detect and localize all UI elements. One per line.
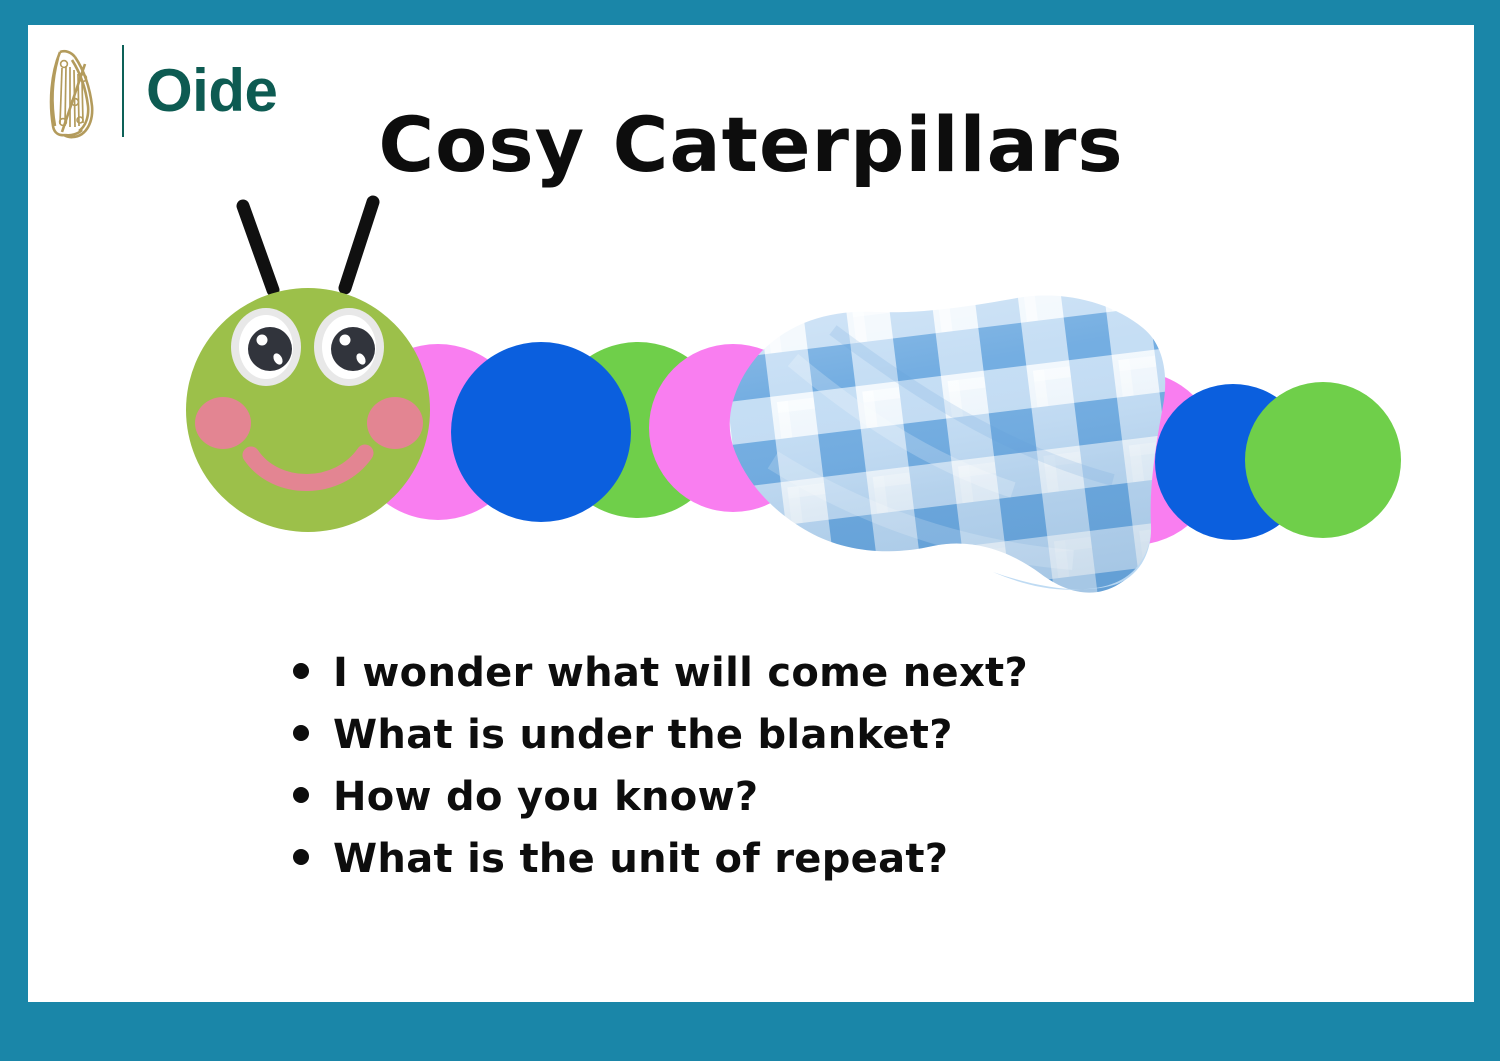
slide-frame: Oide Cosy Caterpillars (0, 0, 1500, 1061)
question-text: What is the unit of repeat? (333, 836, 948, 882)
list-item: How do you know? (293, 774, 1293, 836)
bullet-icon (293, 725, 309, 741)
caterpillar-antennae (243, 202, 373, 290)
list-item: What is under the blanket? (293, 712, 1293, 774)
question-text: How do you know? (333, 774, 758, 820)
eye-right (314, 308, 384, 386)
segment-blue-1 (451, 342, 631, 522)
cheek-right (367, 397, 423, 449)
list-item: What is the unit of repeat? (293, 836, 1293, 898)
slide-canvas: Oide Cosy Caterpillars (28, 25, 1474, 1002)
segment-green-3 (1245, 382, 1401, 538)
bullet-icon (293, 787, 309, 803)
bullet-icon (293, 663, 309, 679)
bullet-icon (293, 849, 309, 865)
cosy-caterpillar-illustration (133, 160, 1413, 630)
cheek-left (195, 397, 251, 449)
eye-left (231, 308, 301, 386)
caterpillar-head (186, 288, 430, 532)
question-text: What is under the blanket? (333, 712, 953, 758)
list-item: I wonder what will come next? (293, 650, 1293, 712)
question-text: I wonder what will come next? (333, 650, 1028, 696)
question-list: I wonder what will come next? What is un… (293, 650, 1293, 898)
